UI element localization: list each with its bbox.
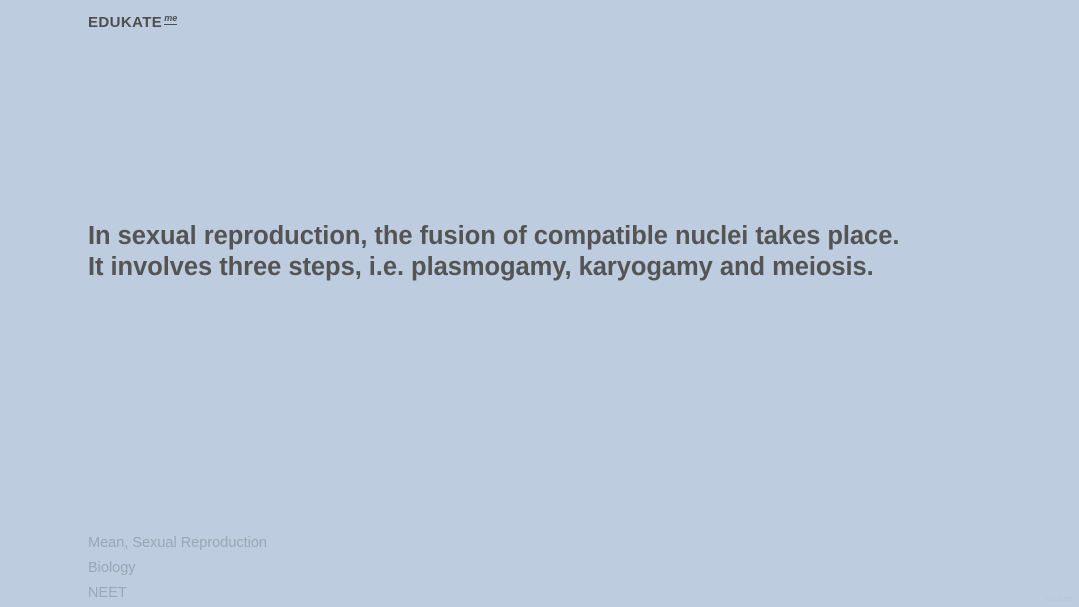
brand-logo[interactable]: EDUKATE me	[88, 15, 177, 30]
footer-subject: Biology	[88, 556, 267, 581]
corner-watermark: edukate	[1046, 596, 1073, 603]
brand-name: EDUKATE	[88, 15, 162, 30]
brand-suffix: me	[164, 14, 177, 25]
slide-canvas: EDUKATE me In sexual reproduction, the f…	[0, 0, 1079, 607]
statement-block: In sexual reproduction, the fusion of co…	[88, 221, 1028, 283]
statement-line-2: It involves three steps, i.e. plasmogamy…	[88, 252, 1028, 283]
footer-meta: Mean, Sexual Reproduction Biology NEET	[88, 531, 267, 606]
statement-line-1: In sexual reproduction, the fusion of co…	[88, 221, 1028, 252]
footer-topic: Mean, Sexual Reproduction	[88, 531, 267, 556]
footer-exam: NEET	[88, 581, 267, 606]
